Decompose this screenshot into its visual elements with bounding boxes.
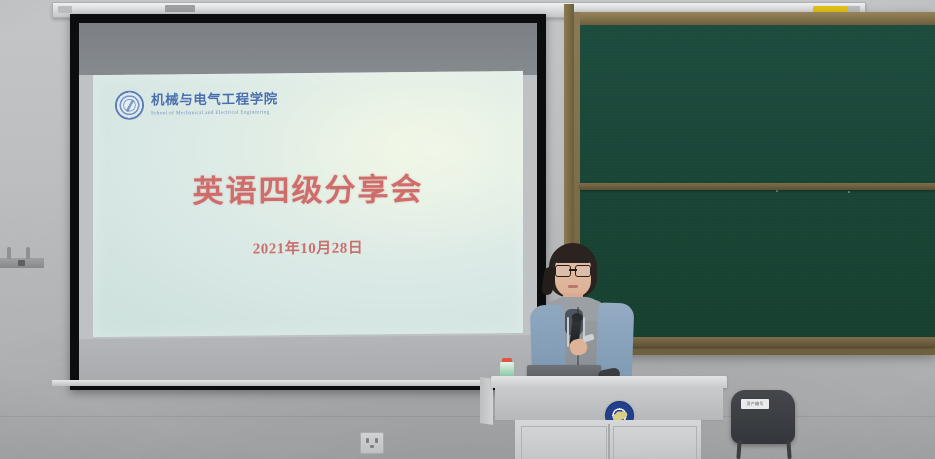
lectern-front-panel [495,387,723,421]
outlet-slot [375,438,378,443]
projection-surface: 机械与电气工程学院 School of Mechanical and Elect… [79,23,537,381]
asset-label: 资产编号 [741,399,769,409]
lens-left [555,265,571,277]
chair: 资产编号 [731,390,803,459]
chair-leg [736,440,741,459]
wall-hook-rack-icon [0,258,44,268]
chalk-tray [580,337,935,347]
slide-title: 英语四级分享会 [93,163,523,212]
chalk-speck [848,191,850,193]
slide-date: 2021年10月28日 [93,235,523,260]
department-name-cn: 机械与电气工程学院 [151,93,278,108]
lectern-door-split [608,424,610,459]
chair-leg [786,440,791,459]
hook-icon [7,247,11,259]
blackboard-frame [580,20,935,345]
hook-icon [26,247,30,259]
chalk-speck [776,190,778,192]
outlet-slot [370,445,374,448]
slide-letterbox-top [79,23,537,75]
hook-plate [18,260,25,266]
power-outlet-icon [360,432,384,454]
university-emblem-icon [115,91,144,120]
lectern-door-right[interactable] [613,426,697,459]
classroom-photo-scene: 机械与电气工程学院 School of Mechanical and Elect… [0,0,935,459]
mouth [568,285,578,288]
presentation-slide: 机械与电气工程学院 School of Mechanical and Elect… [93,71,523,337]
lectern-door-left[interactable] [521,426,607,459]
eyeglasses-icon [555,265,591,275]
department-name-en: School of Mechanical and Electrical Engi… [151,109,278,116]
slide-letterbox-bottom [79,335,537,381]
blackboard-top-rail [580,12,935,25]
lectern [491,376,727,459]
roller-end-cap [58,6,72,13]
roller-sticker [165,5,195,12]
hair-fringe [553,247,593,263]
outlet-slot [366,438,369,443]
lens-right [575,265,591,277]
presenter [527,243,633,383]
chair-backrest: 资产编号 [731,390,795,444]
projection-screen: 机械与电气工程学院 School of Mechanical and Elect… [70,14,546,390]
slide-department-header: 机械与电气工程学院 School of Mechanical and Elect… [115,89,278,120]
blackboard-middle-rail [580,183,935,190]
